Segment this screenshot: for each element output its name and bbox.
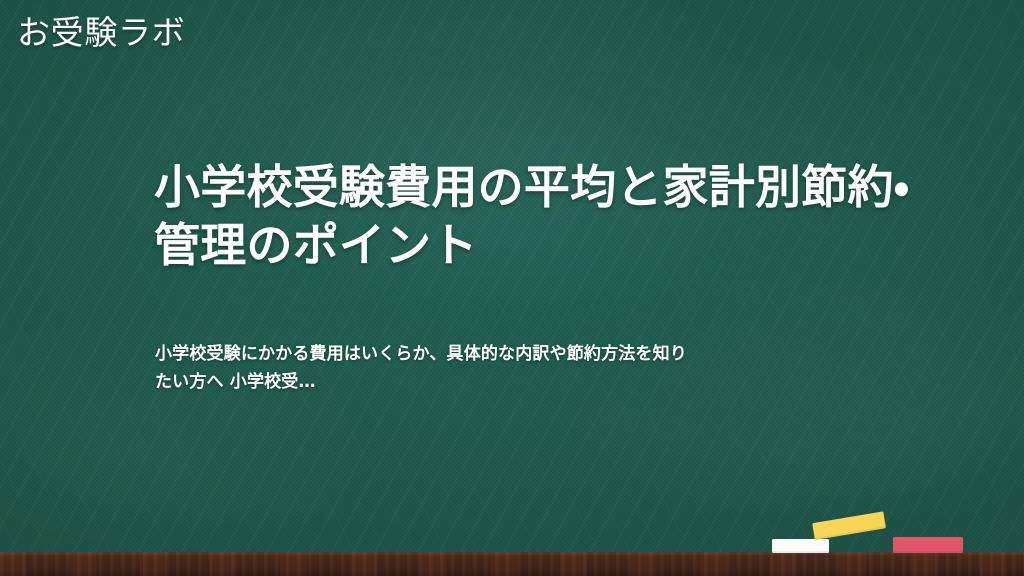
- wood-grain-texture: [0, 552, 1024, 576]
- article-excerpt: 小学校受験にかかる費用はいくらか、具体的な内訳や節約方法を知りたい方へ 小学校受…: [155, 340, 695, 396]
- site-logo[interactable]: お受験ラボ: [17, 11, 185, 55]
- chalkboard-background: [0, 0, 1024, 576]
- page-title: 小学校受験費用の平均と家計別節約・管理のポイント: [154, 158, 944, 274]
- red-chalk-stick: [893, 537, 963, 553]
- chalkboard-texture-overlay: [0, 0, 1024, 576]
- text-block: 小学校受験費用の平均と家計別節約・管理のポイント 小学校受験にかかる費用はいくら…: [154, 158, 944, 274]
- white-chalk-stick: [772, 539, 829, 553]
- thumbnail-canvas: お受験ラボ 小学校受験費用の平均と家計別節約・管理のポイント 小学校受験にかかる…: [0, 0, 1024, 576]
- chalk-tray: [0, 552, 1024, 576]
